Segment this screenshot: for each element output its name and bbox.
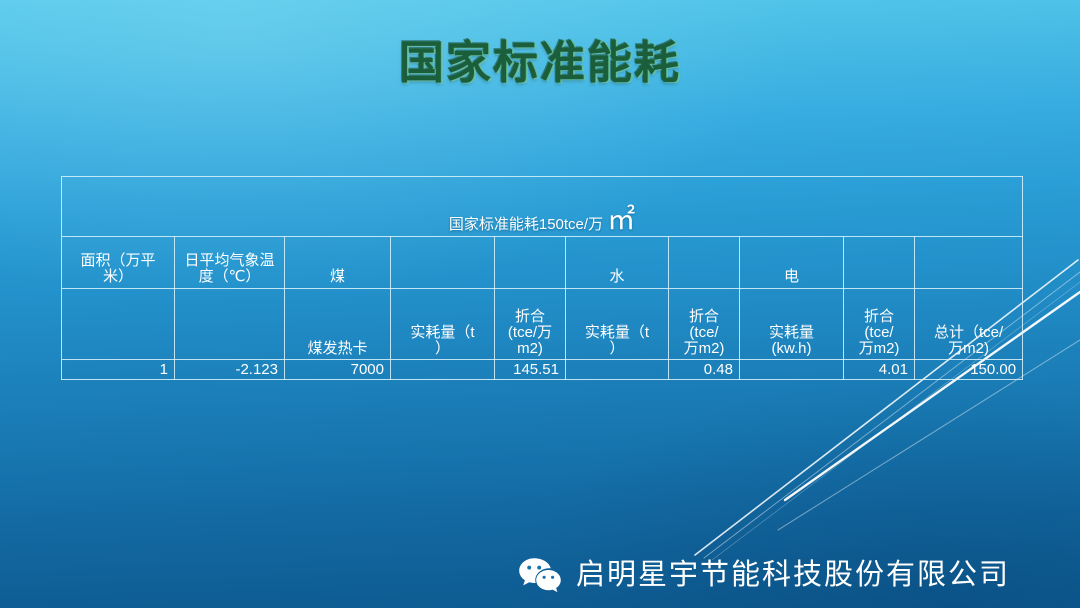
header-area: 面积（万平 米） [62, 237, 175, 289]
table-header-row-2: 煤发热卡 实耗量（t ） 折合 (tce/万 m2) 实耗量（t ） 折合 (t… [62, 289, 1023, 360]
cell-electricity-usage [740, 360, 844, 380]
subheader-electricity-conversion-line1: 折合 [847, 309, 911, 325]
header-group-water: 水 [566, 237, 669, 289]
subheader-water-conversion: 折合 (tce/ 万m2) [669, 289, 740, 360]
subheader-water-conversion-line1: 折合 [672, 309, 736, 325]
table-header-row-1: 面积（万平 米） 日平均气象温 度（℃） 煤 水 电 [62, 237, 1023, 289]
subheader-electricity-usage-line1: 实耗量 [743, 325, 840, 341]
subheader-coal-usage-line2: ） [394, 341, 491, 357]
subheader-water-conversion-line2: (tce/ [672, 325, 736, 341]
subheader-coal-conversion-line1: 折合 [498, 309, 562, 325]
cell-water-usage [566, 360, 669, 380]
subheader-total-line2: 万m2) [918, 341, 1019, 357]
subheader-water-usage-line1: 实耗量（t [569, 325, 665, 341]
table-heading-cell: 国家标准能耗150tce/万 ㎡ [62, 177, 1023, 237]
header-spacer-coal-use [391, 237, 495, 289]
cell-coal-usage [391, 360, 495, 380]
cell-area: 1 [62, 360, 175, 380]
header-group-coal: 煤 [285, 237, 391, 289]
subheader-electricity-usage-line2: (kw.h) [743, 341, 840, 357]
table-heading-unit: ㎡ [607, 204, 635, 235]
header-temperature-line1: 日平均气象温 [178, 253, 281, 269]
subheader-total: 总计（tce/ 万m2) [915, 289, 1023, 360]
header-spacer-coal-conv [495, 237, 566, 289]
cell-total: 150.00 [915, 360, 1023, 380]
subheader-coal-usage-line1: 实耗量（t [394, 325, 491, 341]
cell-water-conversion: 0.48 [669, 360, 740, 380]
wechat-icon [518, 556, 562, 594]
cell-coal-heat: 7000 [285, 360, 391, 380]
header-spacer-elec-conv [844, 237, 915, 289]
header-spacer-water-conv [669, 237, 740, 289]
slide-title: 国家标准能耗 [0, 36, 1080, 89]
subheader-electricity-conversion: 折合 (tce/ 万m2) [844, 289, 915, 360]
cell-coal-conversion: 145.51 [495, 360, 566, 380]
subheader-total-line1: 总计（tce/ [918, 325, 1019, 341]
header-spacer-total [915, 237, 1023, 289]
header-group-electricity: 电 [740, 237, 844, 289]
slide-canvas: 国家标准能耗 国家标准能耗150tce/万 ㎡ [0, 0, 1080, 608]
subheader-water-usage: 实耗量（t ） [566, 289, 669, 360]
header-area-line1: 面积（万平 [65, 253, 171, 269]
energy-consumption-table: 国家标准能耗150tce/万 ㎡ 面积（万平 米） 日平均气象温 度（℃） 煤 … [61, 176, 1023, 380]
footer-bar: 启明星宇节能科技股份有限公司 [0, 530, 1080, 608]
header-temperature-line2: 度（℃） [178, 269, 281, 285]
subheader-coal-conversion-line3: m2) [498, 341, 562, 357]
table-row: 1 -2.123 7000 145.51 0.48 4.01 150.00 [62, 360, 1023, 380]
cell-electricity-conversion: 4.01 [844, 360, 915, 380]
subheader-coal-conversion-line2: (tce/万 [498, 325, 562, 341]
subheader-temperature-blank [175, 289, 285, 360]
subheader-electricity-usage: 实耗量 (kw.h) [740, 289, 844, 360]
energy-consumption-table-wrapper: 国家标准能耗150tce/万 ㎡ 面积（万平 米） 日平均气象温 度（℃） 煤 … [61, 176, 1022, 380]
subheader-water-usage-line2: ） [569, 341, 665, 357]
subheader-coal-usage: 实耗量（t ） [391, 289, 495, 360]
cell-temperature: -2.123 [175, 360, 285, 380]
subheader-electricity-conversion-line2: (tce/ [847, 325, 911, 341]
subheader-area-blank [62, 289, 175, 360]
subheader-coal-heat: 煤发热卡 [285, 289, 391, 360]
table-heading-row: 国家标准能耗150tce/万 ㎡ [62, 177, 1023, 237]
header-temperature: 日平均气象温 度（℃） [175, 237, 285, 289]
subheader-electricity-conversion-line3: 万m2) [847, 341, 911, 357]
subheader-coal-conversion: 折合 (tce/万 m2) [495, 289, 566, 360]
header-area-line2: 米） [65, 269, 171, 285]
footer-company-name: 启明星宇节能科技股份有限公司 [576, 561, 1010, 590]
footer-content: 启明星宇节能科技股份有限公司 [518, 556, 1010, 594]
table-heading-main: 国家标准能耗150tce/万 [449, 216, 607, 233]
subheader-water-conversion-line3: 万m2) [672, 341, 736, 357]
